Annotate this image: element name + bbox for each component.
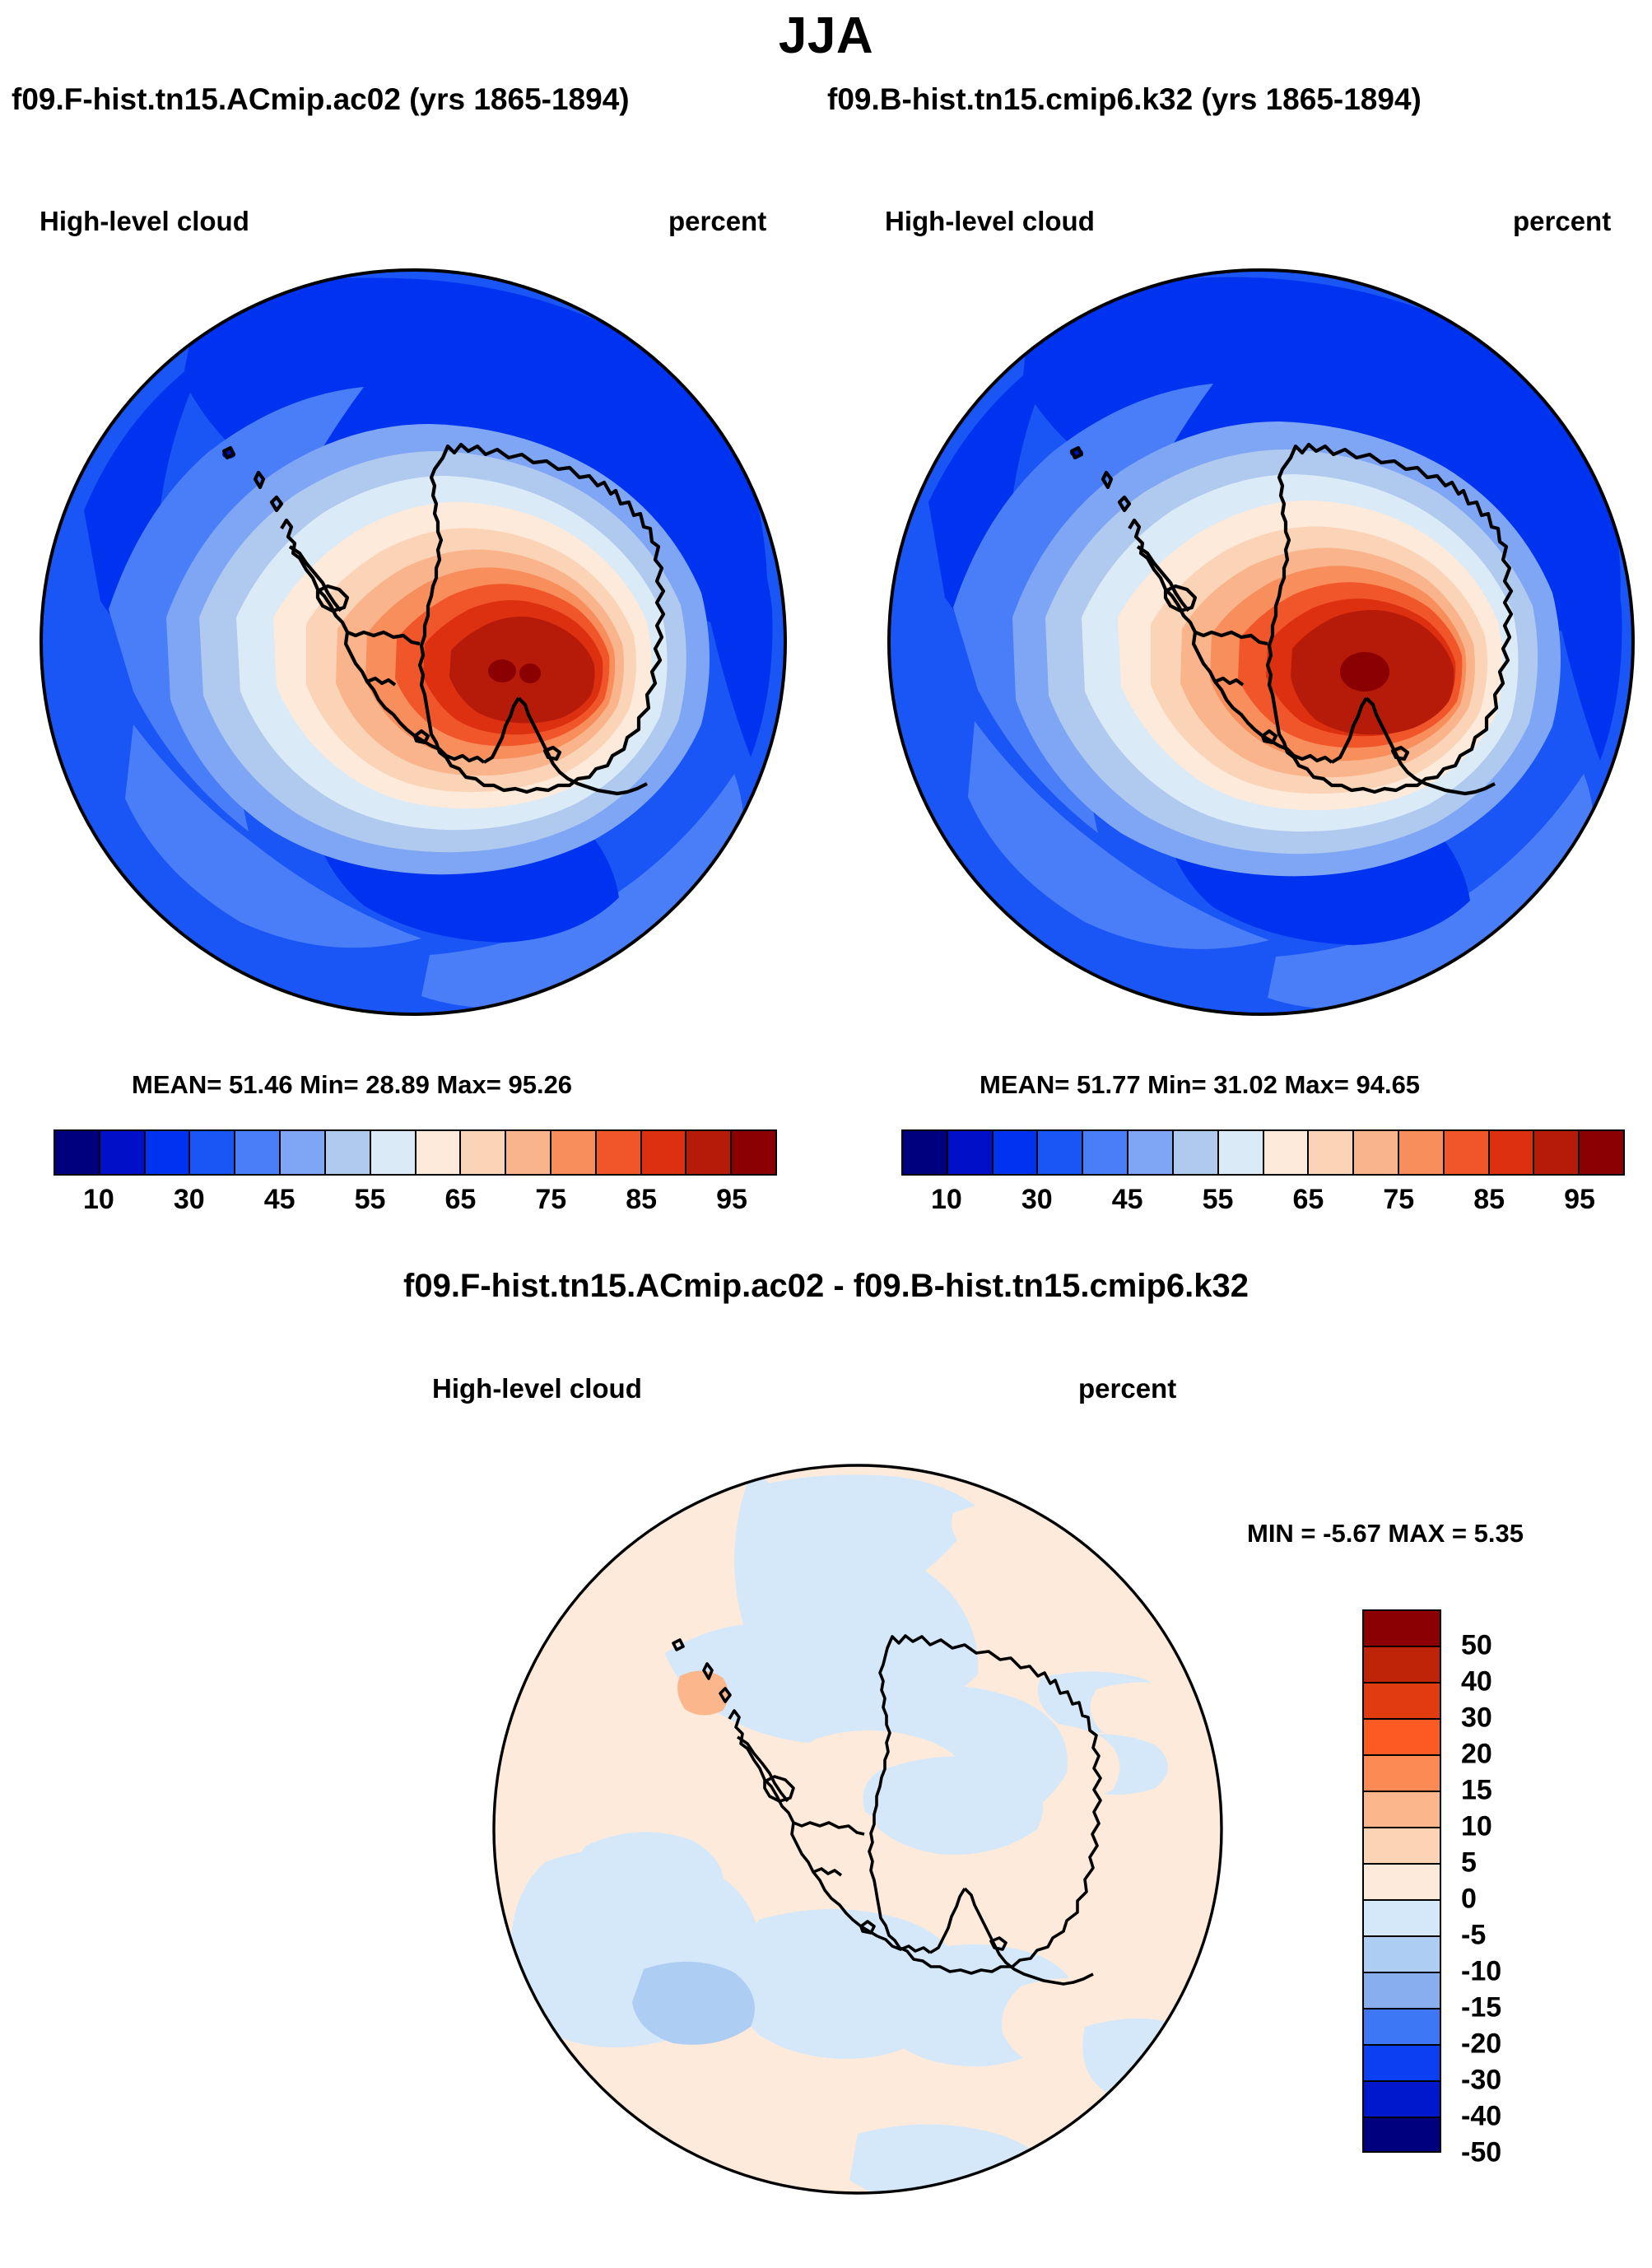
colorbar-cell xyxy=(1174,1131,1219,1174)
right-panel-stats: MEAN= 51.77 Min= 31.02 Max= 94.65 xyxy=(980,1070,1420,1100)
left-colorbar-group: 1030455565758595 xyxy=(54,1129,777,1222)
right-map-svg xyxy=(882,263,1640,1021)
diff-colorbar-cell xyxy=(1362,1609,1441,1646)
diff-colorbar-cell xyxy=(1362,1718,1441,1754)
diff-colorbar-cell xyxy=(1362,2080,1441,2117)
colorbar-tick-label: 75 xyxy=(535,1184,566,1216)
colorbar-cell xyxy=(903,1131,948,1174)
right-colorbar[interactable] xyxy=(901,1129,1625,1176)
colorbar-cell xyxy=(1038,1131,1083,1174)
colorbar-cell xyxy=(1490,1131,1535,1174)
colorbar-cell xyxy=(416,1131,462,1174)
diff-colorbar-tick-label: -10 xyxy=(1461,1956,1501,1988)
diff-colorbar-cell xyxy=(1362,2044,1441,2080)
diff-colorbar-cell xyxy=(1362,1899,1441,1935)
colorbar-cell xyxy=(642,1131,687,1174)
colorbar-cell xyxy=(371,1131,416,1174)
right-colorbar-ticks: 1030455565758595 xyxy=(901,1184,1625,1222)
colorbar-tick-label: 95 xyxy=(1564,1184,1595,1216)
colorbar-tick-label: 30 xyxy=(1021,1184,1053,1216)
diff-panel-case-title: f09.F-hist.tn15.ACmip.ac02 - f09.B-hist.… xyxy=(0,1268,1652,1305)
diff-colorbar-tick-label: -20 xyxy=(1461,2028,1501,2061)
diff-panel-minmax: MIN = -5.67 MAX = 5.35 xyxy=(1247,1519,1524,1548)
diff-colorbar-cell xyxy=(1362,1972,1441,2008)
diff-colorbar-tick-label: 15 xyxy=(1461,1775,1492,1807)
diff-colorbar-tick-label: 30 xyxy=(1461,1702,1492,1735)
diff-colorbar-tick-label: 5 xyxy=(1461,1847,1477,1879)
colorbar-cell xyxy=(281,1131,326,1174)
colorbar-cell xyxy=(1445,1131,1490,1174)
diff-colorbar-cell xyxy=(1362,1791,1441,1827)
left-panel-stats: MEAN= 51.46 Min= 28.89 Max= 95.26 xyxy=(132,1070,572,1100)
diff-colorbar-tick-label: 20 xyxy=(1461,1739,1492,1771)
diff-colorbar-cell xyxy=(1362,1754,1441,1791)
colorbar-tick-label: 45 xyxy=(264,1184,295,1216)
diff-colorbar-tick-label: 50 xyxy=(1461,1630,1492,1662)
colorbar-tick-label: 45 xyxy=(1112,1184,1143,1216)
colorbar-cell xyxy=(190,1131,235,1174)
colorbar-cell xyxy=(1534,1131,1580,1174)
left-panel-field-label: High-level cloud xyxy=(40,206,249,237)
colorbar-cell xyxy=(1264,1131,1310,1174)
diff-colorbar-tick-label: 40 xyxy=(1461,1666,1492,1698)
right-panel-case-title: f09.B-hist.tn15.cmip6.k32 (yrs 1865-1894… xyxy=(827,82,1422,117)
colorbar-cell xyxy=(461,1131,506,1174)
diff-colorbar-tick-label: -5 xyxy=(1461,1920,1486,1952)
colorbar-cell xyxy=(506,1131,551,1174)
diff-colorbar-cell xyxy=(1362,1863,1441,1899)
diff-colorbar-tick-label: -50 xyxy=(1461,2137,1501,2169)
diff-colorbar-cell xyxy=(1362,2117,1441,2153)
colorbar-cell xyxy=(326,1131,371,1174)
colorbar-cell xyxy=(597,1131,642,1174)
colorbar-tick-label: 75 xyxy=(1383,1184,1414,1216)
colorbar-cell xyxy=(1309,1131,1354,1174)
colorbar-tick-label: 10 xyxy=(931,1184,962,1216)
left-polar-map xyxy=(35,263,792,1021)
diff-colorbar-tick-label: -15 xyxy=(1461,1992,1501,2024)
colorbar-tick-label: 10 xyxy=(83,1184,114,1216)
diff-colorbar-cell xyxy=(1362,2008,1441,2044)
left-colorbar[interactable] xyxy=(54,1129,777,1176)
colorbar-cell xyxy=(551,1131,597,1174)
diff-colorbar-tick-label: 0 xyxy=(1461,1884,1477,1916)
colorbar-tick-label: 55 xyxy=(1203,1184,1234,1216)
colorbar-cell xyxy=(1083,1131,1128,1174)
diff-colorbar-tick-label: 10 xyxy=(1461,1811,1492,1843)
colorbar-cell xyxy=(100,1131,146,1174)
colorbar-cell xyxy=(686,1131,732,1174)
colorbar-cell xyxy=(1219,1131,1264,1174)
diff-colorbar-tick-label: -30 xyxy=(1461,2065,1501,2097)
right-panel-field-label: High-level cloud xyxy=(885,206,1095,237)
colorbar-cell xyxy=(55,1131,100,1174)
colorbar-cell xyxy=(235,1131,281,1174)
colorbar-cell xyxy=(1128,1131,1174,1174)
colorbar-tick-label: 85 xyxy=(1473,1184,1505,1216)
left-map-svg xyxy=(35,263,792,1021)
colorbar-tick-label: 30 xyxy=(174,1184,205,1216)
diff-colorbar-cell xyxy=(1362,1682,1441,1718)
colorbar-tick-label: 85 xyxy=(626,1184,657,1216)
colorbar-cell xyxy=(1580,1131,1623,1174)
diff-colorbar[interactable] xyxy=(1362,1609,1441,2153)
diff-panel-field-label: High-level cloud xyxy=(432,1373,642,1404)
figure-root: JJA f09.F-hist.tn15.ACmip.ac02 (yrs 1865… xyxy=(0,0,1652,2217)
colorbar-cell xyxy=(994,1131,1039,1174)
left-colorbar-ticks: 1030455565758595 xyxy=(54,1184,777,1222)
colorbar-cell xyxy=(1399,1131,1445,1174)
diff-colorbar-cell xyxy=(1362,1935,1441,1972)
colorbar-cell xyxy=(146,1131,191,1174)
colorbar-tick-label: 55 xyxy=(355,1184,386,1216)
page-title: JJA xyxy=(0,7,1652,65)
right-panel-units-label: percent xyxy=(1513,206,1611,237)
diff-colorbar-cell xyxy=(1362,1827,1441,1863)
diff-panel-units-label: percent xyxy=(1078,1373,1176,1404)
left-panel-units-label: percent xyxy=(668,206,766,237)
diff-map-svg xyxy=(487,1459,1228,2200)
right-polar-map xyxy=(882,263,1640,1021)
colorbar-tick-label: 95 xyxy=(716,1184,747,1216)
colorbar-cell xyxy=(948,1131,994,1174)
diff-colorbar-cell xyxy=(1362,1646,1441,1682)
colorbar-tick-label: 65 xyxy=(445,1184,477,1216)
diff-colorbar-tick-label: -40 xyxy=(1461,2101,1501,2133)
colorbar-tick-label: 65 xyxy=(1293,1184,1324,1216)
diff-colorbar-ticks: 50403020151050-5-10-15-20-30-40-50 xyxy=(1461,1609,1576,2268)
left-panel-case-title: f09.F-hist.tn15.ACmip.ac02 (yrs 1865-189… xyxy=(12,82,630,117)
diff-polar-map xyxy=(487,1459,1228,2200)
right-colorbar-group: 1030455565758595 xyxy=(901,1129,1625,1222)
colorbar-cell xyxy=(1354,1131,1399,1174)
colorbar-cell xyxy=(732,1131,775,1174)
